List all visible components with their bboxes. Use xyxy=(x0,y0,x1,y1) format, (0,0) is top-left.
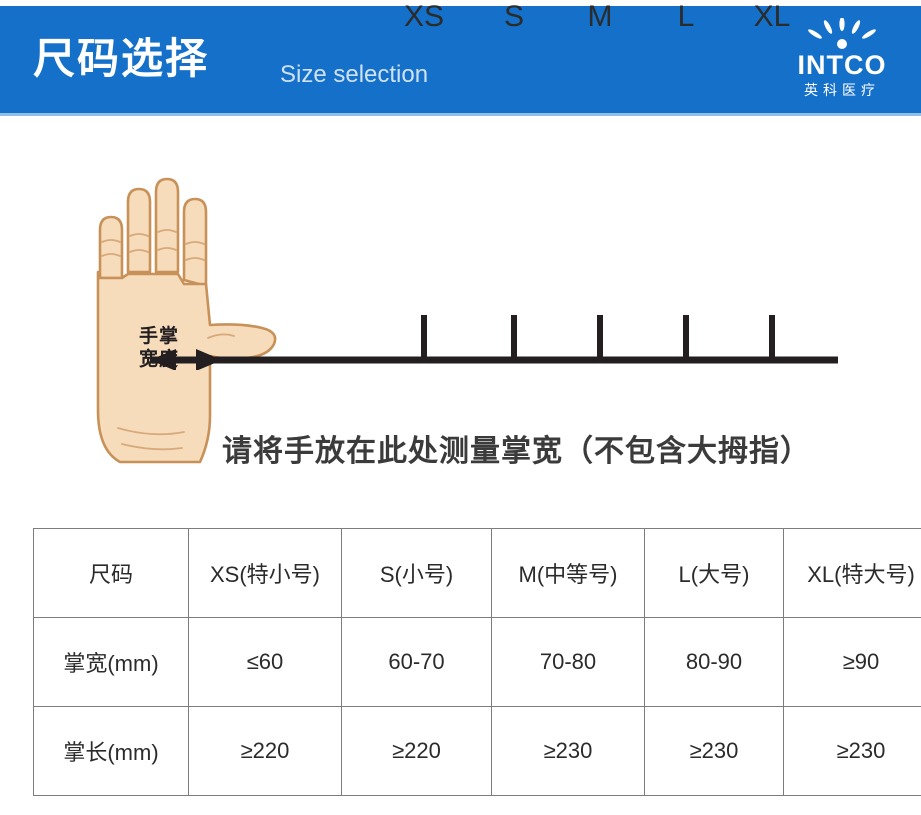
sunburst-icon xyxy=(802,18,882,52)
table-header-size: 尺码 xyxy=(34,529,189,618)
brand-logo: INTCO 英科医疗 xyxy=(780,18,904,106)
cell-palm-length-l: ≥230 xyxy=(645,707,784,796)
ruler-label-s: S xyxy=(504,0,524,34)
page-title: 尺码选择 xyxy=(33,36,209,82)
cell-palm-width-s: 60-70 xyxy=(342,618,492,707)
cell-palm-length-s: ≥220 xyxy=(342,707,492,796)
ruler-label-m: M xyxy=(588,0,613,34)
logo-subtitle: 英科医疗 xyxy=(780,81,904,99)
page-subtitle: Size selection xyxy=(280,62,428,88)
table-row-palm-length: 掌长(mm) ≥220 ≥220 ≥230 ≥230 ≥230 xyxy=(34,707,921,796)
row-label-palm-length: 掌长(mm) xyxy=(34,707,189,796)
cell-palm-width-xs: ≤60 xyxy=(189,618,342,707)
row-label-palm-width: 掌宽(mm) xyxy=(34,618,189,707)
size-ruler xyxy=(150,270,850,370)
table-row-header: 尺码 XS(特小号) S(小号) M(中等号) L(大号) XL(特大号) xyxy=(34,529,921,618)
ruler-label-l: L xyxy=(678,0,695,34)
table-header-m: M(中等号) xyxy=(492,529,645,618)
table-header-xl: XL(特大号) xyxy=(784,529,921,618)
cell-palm-width-m: 70-80 xyxy=(492,618,645,707)
cell-palm-length-xs: ≥220 xyxy=(189,707,342,796)
palm-width-label-line2: 宽度 xyxy=(139,349,179,370)
table-header-xs: XS(特小号) xyxy=(189,529,342,618)
measurement-instruction: 请将手放在此处测量掌宽（不包含大拇指） xyxy=(222,432,811,472)
table-header-s: S(小号) xyxy=(342,529,492,618)
cell-palm-length-m: ≥230 xyxy=(492,707,645,796)
cell-palm-width-l: 80-90 xyxy=(645,618,784,707)
table-header-l: L(大号) xyxy=(645,529,784,618)
header-underline xyxy=(0,113,921,116)
cell-palm-width-xl: ≥90 xyxy=(784,618,921,707)
ruler-label-xs: XS xyxy=(404,0,444,34)
palm-width-label-line1: 手掌 xyxy=(139,326,179,347)
table-row-palm-width: 掌宽(mm) ≤60 60-70 70-80 80-90 ≥90 xyxy=(34,618,921,707)
palm-width-label: 手掌 宽度 xyxy=(121,325,197,371)
size-chart-table: 尺码 XS(特小号) S(小号) M(中等号) L(大号) XL(特大号) 掌宽… xyxy=(33,528,921,796)
logo-wordmark: INTCO xyxy=(780,51,904,80)
cell-palm-length-xl: ≥230 xyxy=(784,707,921,796)
ruler-label-xl: XL xyxy=(754,0,791,34)
